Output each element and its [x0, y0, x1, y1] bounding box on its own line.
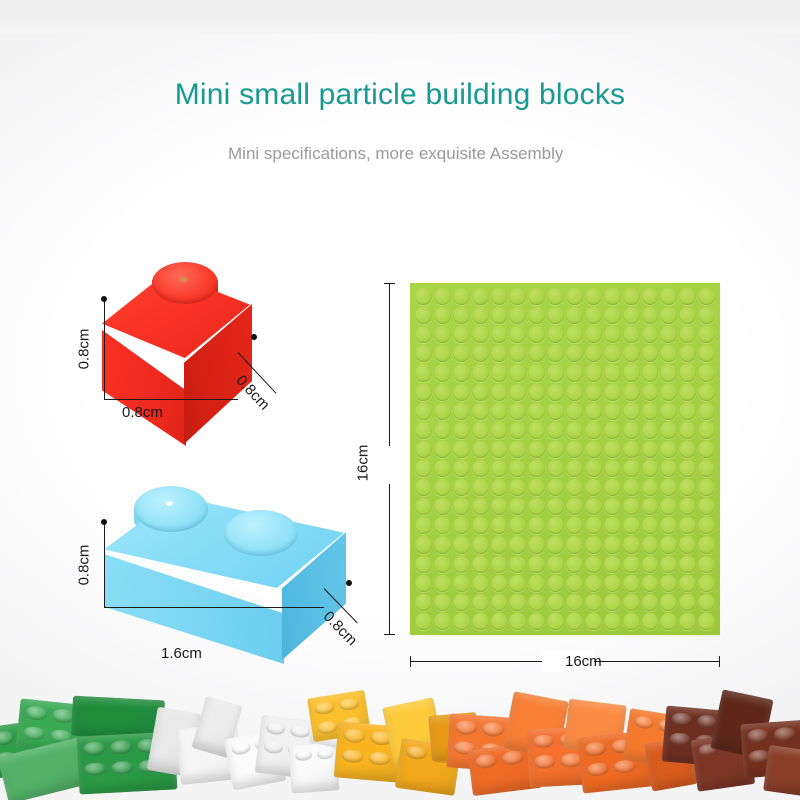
baseplate-stud: [698, 479, 715, 496]
baseplate-stud: [415, 384, 432, 401]
baseplate-stud: [679, 422, 696, 439]
baseplate-stud: [472, 556, 489, 573]
baseplate-stud: [415, 479, 432, 496]
baseplate-stud: [585, 575, 602, 592]
baseplate-stud: [547, 364, 564, 381]
baseplate-stud: [491, 479, 508, 496]
pile-brick-stud: [343, 728, 366, 743]
baseplate-stud: [453, 575, 470, 592]
baseplate-stud: [415, 498, 432, 515]
baseplate-stud: [472, 460, 489, 477]
baseplate-stud: [472, 307, 489, 324]
baseplate-stud: [585, 364, 602, 381]
baseplate-height-cap-top: [384, 283, 395, 284]
baseplate-stud: [604, 479, 621, 496]
red-brick-stud: [152, 262, 218, 304]
pile-brick-stud: [111, 760, 134, 775]
baseplate-stud: [528, 498, 545, 515]
baseplate-stud: [547, 422, 564, 439]
pile-brick-stud: [295, 750, 312, 761]
baseplate-stud: [679, 594, 696, 611]
baseplate-stud: [453, 594, 470, 611]
baseplate-stud: [623, 460, 640, 477]
baseplate-stud: [547, 384, 564, 401]
baseplate-stud: [472, 326, 489, 343]
baseplate-stud: [698, 460, 715, 477]
baseplate-stud: [660, 326, 677, 343]
baseplate-stud: [623, 422, 640, 439]
baseplate-stud: [528, 594, 545, 611]
baseplate-stud: [415, 307, 432, 324]
pile-brick-stud: [482, 722, 505, 737]
baseplate-stud: [472, 575, 489, 592]
baseplate-stud: [415, 556, 432, 573]
red-brick-height-dot: [101, 296, 107, 302]
baseplate-stud: [604, 556, 621, 573]
baseplate-stud: [660, 307, 677, 324]
baseplate-stud: [585, 288, 602, 305]
baseplate-height-label-mask: [382, 446, 398, 484]
baseplate-stud: [415, 364, 432, 381]
baseplate-stud: [585, 536, 602, 553]
baseplate-stud: [528, 345, 545, 362]
baseplate-stud: [679, 460, 696, 477]
baseplate-stud: [660, 384, 677, 401]
baseplate-stud: [623, 384, 640, 401]
blue-brick-stud-2: [224, 510, 298, 556]
baseplate-stud: [566, 441, 583, 458]
baseplate-stud: [642, 345, 659, 362]
baseplate-stud: [434, 613, 451, 630]
baseplate-stud: [585, 307, 602, 324]
page-subtitle: Mini specifications, more exquisite Asse…: [228, 143, 648, 164]
baseplate-stud: [528, 479, 545, 496]
baseplate-stud: [434, 498, 451, 515]
baseplate-stud: [566, 403, 583, 420]
baseplate-stud: [415, 575, 432, 592]
blue-brick-height-label: 0.8cm: [76, 545, 93, 586]
baseplate-stud: [415, 441, 432, 458]
baseplate-stud: [679, 326, 696, 343]
baseplate-stud: [660, 575, 677, 592]
red-brick-width-label: 0.8cm: [122, 404, 163, 421]
baseplate-stud: [698, 441, 715, 458]
pile-brick-stud: [84, 762, 107, 777]
pile-brick-stud: [110, 740, 133, 755]
baseplate-stud: [509, 498, 526, 515]
blue-brick-stud-1: [134, 486, 208, 532]
baseplate-stud: [698, 498, 715, 515]
baseplate-stud: [642, 575, 659, 592]
baseplate-stud: [566, 594, 583, 611]
pile-brick-stud: [341, 748, 364, 763]
baseplate-stud: [566, 498, 583, 515]
pile-brick-stud: [586, 761, 609, 777]
baseplate-stud: [660, 364, 677, 381]
baseplate-stud: [491, 556, 508, 573]
baseplate-stud: [642, 556, 659, 573]
baseplate-stud: [509, 594, 526, 611]
baseplate-stud: [679, 403, 696, 420]
pile-brick-stud: [266, 721, 287, 735]
baseplate-stud: [472, 345, 489, 362]
baseplate-stud: [585, 556, 602, 573]
baseplate-stud: [453, 536, 470, 553]
baseplate-stud: [453, 403, 470, 420]
baseplate-stud: [491, 536, 508, 553]
pile-brick-stud: [263, 740, 284, 754]
baseplate-stud: [491, 422, 508, 439]
baseplate-stud: [472, 479, 489, 496]
baseplate-stud: [566, 307, 583, 324]
baseplate-stud: [660, 594, 677, 611]
baseplate-stud: [660, 517, 677, 534]
baseplate-stud: [472, 422, 489, 439]
baseplate-stud: [623, 536, 640, 553]
pile-brick-stud: [368, 751, 391, 766]
baseplate-stud: [585, 403, 602, 420]
baseplate-stud: [660, 403, 677, 420]
baseplate-stud: [547, 498, 564, 515]
baseplate-stud: [604, 422, 621, 439]
baseplate-stud: [509, 556, 526, 573]
baseplate-stud: [585, 594, 602, 611]
baseplate-stud: [679, 575, 696, 592]
pile-brick-stud: [671, 712, 693, 727]
baseplate-stud: [509, 517, 526, 534]
baseplate-stud: [415, 517, 432, 534]
baseplate-stud: [698, 517, 715, 534]
baseplate-stud: [472, 441, 489, 458]
baseplate-stud: [491, 288, 508, 305]
baseplate-stud: [434, 460, 451, 477]
baseplate-stud: [509, 403, 526, 420]
baseplate-stud: [453, 345, 470, 362]
baseplate-stud: [434, 326, 451, 343]
baseplate-stud: [604, 403, 621, 420]
baseplate-stud: [491, 403, 508, 420]
baseplate-stud: [585, 441, 602, 458]
baseplate-stud: [528, 613, 545, 630]
baseplate-stud: [547, 441, 564, 458]
baseplate-stud: [528, 517, 545, 534]
baseplate-stud: [528, 575, 545, 592]
baseplate-stud: [660, 613, 677, 630]
baseplate-stud: [472, 403, 489, 420]
baseplate-stud: [491, 613, 508, 630]
baseplate-stud: [509, 288, 526, 305]
baseplate-stud: [453, 517, 470, 534]
red-brick-height-label: 0.8cm: [76, 329, 93, 370]
baseplate-stud: [623, 517, 640, 534]
baseplate-stud: [623, 288, 640, 305]
baseplate-stud: [698, 307, 715, 324]
baseplate-stud: [679, 613, 696, 630]
baseplate-stud: [698, 422, 715, 439]
pile-brick-stud: [669, 732, 691, 747]
baseplate-stud: [491, 460, 508, 477]
baseplate-stud: [528, 403, 545, 420]
baseplate-stud: [698, 575, 715, 592]
baseplate-height-label: 16cm: [355, 445, 372, 482]
pile-brick-stud: [314, 701, 336, 716]
baseplate-stud: [660, 498, 677, 515]
baseplate-stud: [434, 307, 451, 324]
baseplate-stud: [453, 479, 470, 496]
baseplate-stud: [585, 498, 602, 515]
baseplate-stud: [547, 556, 564, 573]
baseplate-stud: [604, 575, 621, 592]
baseplate-stud: [547, 479, 564, 496]
baseplate-stud: [491, 364, 508, 381]
baseplate-stud: [623, 594, 640, 611]
baseplate-stud: [415, 536, 432, 553]
baseplate-stud: [660, 479, 677, 496]
baseplate-width-cap-left: [410, 656, 411, 667]
baseplate-stud: [623, 479, 640, 496]
baseplate-stud: [509, 364, 526, 381]
baseplate-stud: [660, 556, 677, 573]
baseplate-stud: [566, 384, 583, 401]
pile-brick-stud: [774, 726, 797, 741]
baseplate-stud: [547, 517, 564, 534]
baseplate-stud: [491, 384, 508, 401]
page-title: Mini small particle building blocks: [0, 78, 800, 112]
pile-brick-stud: [25, 705, 48, 721]
baseplate-stud: [509, 479, 526, 496]
baseplate-stud: [623, 326, 640, 343]
baseplate-stud: [623, 307, 640, 324]
baseplate-stud: [453, 307, 470, 324]
baseplate-stud: [642, 594, 659, 611]
baseplate-stud: [491, 575, 508, 592]
baseplate-stud: [642, 441, 659, 458]
baseplate-stud: [415, 422, 432, 439]
baseplate-stud: [566, 326, 583, 343]
baseplate-stud: [623, 345, 640, 362]
baseplate-stud: [679, 288, 696, 305]
baseplate-stud: [623, 613, 640, 630]
baseplate-stud: [679, 364, 696, 381]
baseplate-stud: [547, 575, 564, 592]
red-brick-depth-dot: [251, 334, 257, 340]
baseplate-stud: [679, 384, 696, 401]
baseplate-stud: [604, 384, 621, 401]
baseplate-stud: [472, 288, 489, 305]
baseplate-stud: [642, 517, 659, 534]
baseplate-stud: [660, 288, 677, 305]
baseplate-stud: [623, 403, 640, 420]
baseplate-stud: [642, 613, 659, 630]
baseplate-stud: [491, 594, 508, 611]
baseplate-stud: [509, 307, 526, 324]
baseplate-stud: [528, 422, 545, 439]
red-brick-height-line: [104, 299, 105, 399]
blue-brick-width-label: 1.6cm: [161, 645, 202, 662]
baseplate-stud: [585, 345, 602, 362]
baseplate-stud: [472, 384, 489, 401]
baseplate-stud: [453, 498, 470, 515]
baseplate-stud: [434, 384, 451, 401]
baseplate-stud: [585, 422, 602, 439]
pile-brick-stud: [584, 741, 607, 757]
baseplate-stud: [642, 326, 659, 343]
pile-brick-stud: [747, 728, 770, 743]
baseplate-stud: [566, 556, 583, 573]
baseplate-stud: [415, 460, 432, 477]
baseplate-stud: [660, 441, 677, 458]
baseplate-stud: [604, 460, 621, 477]
baseplate-stud: [585, 479, 602, 496]
baseplate-stud: [472, 498, 489, 515]
pile-brick-stud: [474, 753, 497, 769]
pile-brick-stud: [533, 734, 555, 748]
baseplate-stud: [472, 613, 489, 630]
baseplate-stud: [415, 288, 432, 305]
pile-brick-stud: [405, 745, 427, 761]
baseplate-stud: [434, 536, 451, 553]
green-baseplate-illustration: [410, 283, 720, 635]
baseplate-stud: [566, 460, 583, 477]
baseplate-stud: [642, 498, 659, 515]
product-infographic: Mini small particle building blocks Mini…: [0, 0, 800, 800]
pile-brick-stud: [455, 720, 478, 735]
pile-brick-stud: [338, 697, 360, 712]
baseplate-stud: [679, 479, 696, 496]
baseplate-stud: [509, 441, 526, 458]
baseplate-height-cap-bottom: [384, 634, 395, 635]
baseplate-stud: [453, 556, 470, 573]
baseplate-stud: [472, 536, 489, 553]
baseplate-stud: [679, 517, 696, 534]
baseplate-stud: [698, 326, 715, 343]
pile-brick-stud: [317, 720, 339, 735]
baseplate-stud: [679, 556, 696, 573]
baseplate-stud: [698, 403, 715, 420]
baseplate-stud: [604, 536, 621, 553]
baseplate-stud: [642, 384, 659, 401]
baseplate-stud: [434, 594, 451, 611]
baseplate-stud: [604, 288, 621, 305]
baseplate-stud: [604, 594, 621, 611]
pile-brick-stud: [290, 724, 311, 738]
baseplate-stud: [509, 326, 526, 343]
baseplate-stud: [453, 613, 470, 630]
baseplate-width-label: 16cm: [565, 653, 602, 670]
baseplate-stud: [453, 384, 470, 401]
baseplate-stud: [604, 441, 621, 458]
baseplate-stud: [642, 536, 659, 553]
baseplate-stud: [642, 403, 659, 420]
baseplate-stud: [698, 556, 715, 573]
baseplate-stud: [604, 613, 621, 630]
baseplate-stud: [604, 517, 621, 534]
baseplate-stud: [434, 517, 451, 534]
baseplate-stud: [491, 498, 508, 515]
baseplate-stud: [528, 460, 545, 477]
baseplate-stud: [604, 326, 621, 343]
baseplate-stud: [566, 613, 583, 630]
pile-brick-stud: [634, 715, 654, 729]
baseplate-stud: [660, 536, 677, 553]
baseplate-stud: [547, 326, 564, 343]
baseplate-stud: [509, 422, 526, 439]
baseplate-stud: [566, 517, 583, 534]
baseplate-stud: [528, 288, 545, 305]
baseplate-stud: [434, 364, 451, 381]
baseplate-stud: [623, 575, 640, 592]
pile-brick: [763, 745, 800, 797]
baseplate-stud: [642, 460, 659, 477]
baseplate-stud: [642, 288, 659, 305]
baseplate-stud: [547, 613, 564, 630]
red-brick-width-line: [104, 399, 238, 400]
baseplate-stud: [509, 384, 526, 401]
baseplate-stud: [623, 441, 640, 458]
baseplate-stud: [528, 326, 545, 343]
baseplate-stud: [491, 307, 508, 324]
pile-brick-stud: [231, 741, 251, 756]
baseplate-stud: [453, 326, 470, 343]
baseplate-stud: [547, 594, 564, 611]
baseplate-stud: [604, 345, 621, 362]
baseplate-stud: [491, 517, 508, 534]
baseplate-stud: [434, 556, 451, 573]
baseplate-stud: [642, 364, 659, 381]
baseplate-stud: [585, 384, 602, 401]
baseplate-stud: [566, 288, 583, 305]
baseplate-stud: [453, 460, 470, 477]
baseplate-stud: [528, 384, 545, 401]
top-gray-band: [0, 0, 800, 34]
baseplate-stud: [585, 460, 602, 477]
baseplate-stud: [434, 575, 451, 592]
blue-brick-stud-pip: [166, 501, 173, 506]
baseplate-stud: [434, 288, 451, 305]
baseplate-stud: [623, 498, 640, 515]
baseplate-stud: [585, 613, 602, 630]
baseplate-stud: [642, 422, 659, 439]
baseplate-stud: [453, 288, 470, 305]
baseplate-stud: [642, 479, 659, 496]
baseplate-stud: [434, 422, 451, 439]
baseplate-stud: [453, 422, 470, 439]
baseplate-stud: [566, 422, 583, 439]
baseplate-stud: [415, 613, 432, 630]
baseplate-stud: [679, 307, 696, 324]
baseplate-stud: [547, 345, 564, 362]
baseplate-stud: [566, 364, 583, 381]
pile-brick-stud: [23, 725, 46, 741]
baseplate-stud: [566, 345, 583, 362]
baseplate-stud: [528, 536, 545, 553]
baseplate-stud: [585, 326, 602, 343]
baseplate-stud: [566, 575, 583, 592]
blue-brick-depth-dot: [346, 580, 352, 586]
baseplate-stud: [547, 288, 564, 305]
baseplate-stud: [547, 536, 564, 553]
baseplate-stud: [698, 364, 715, 381]
baseplate-stud: [660, 422, 677, 439]
brick-pile-strip: [0, 688, 800, 800]
baseplate-stud: [415, 326, 432, 343]
pile-brick: [288, 742, 339, 793]
baseplate-stud: [453, 364, 470, 381]
pile-brick-stud: [316, 749, 333, 760]
baseplate-stud: [491, 326, 508, 343]
baseplate-stud: [547, 460, 564, 477]
blue-brick-height-dot: [101, 519, 107, 525]
